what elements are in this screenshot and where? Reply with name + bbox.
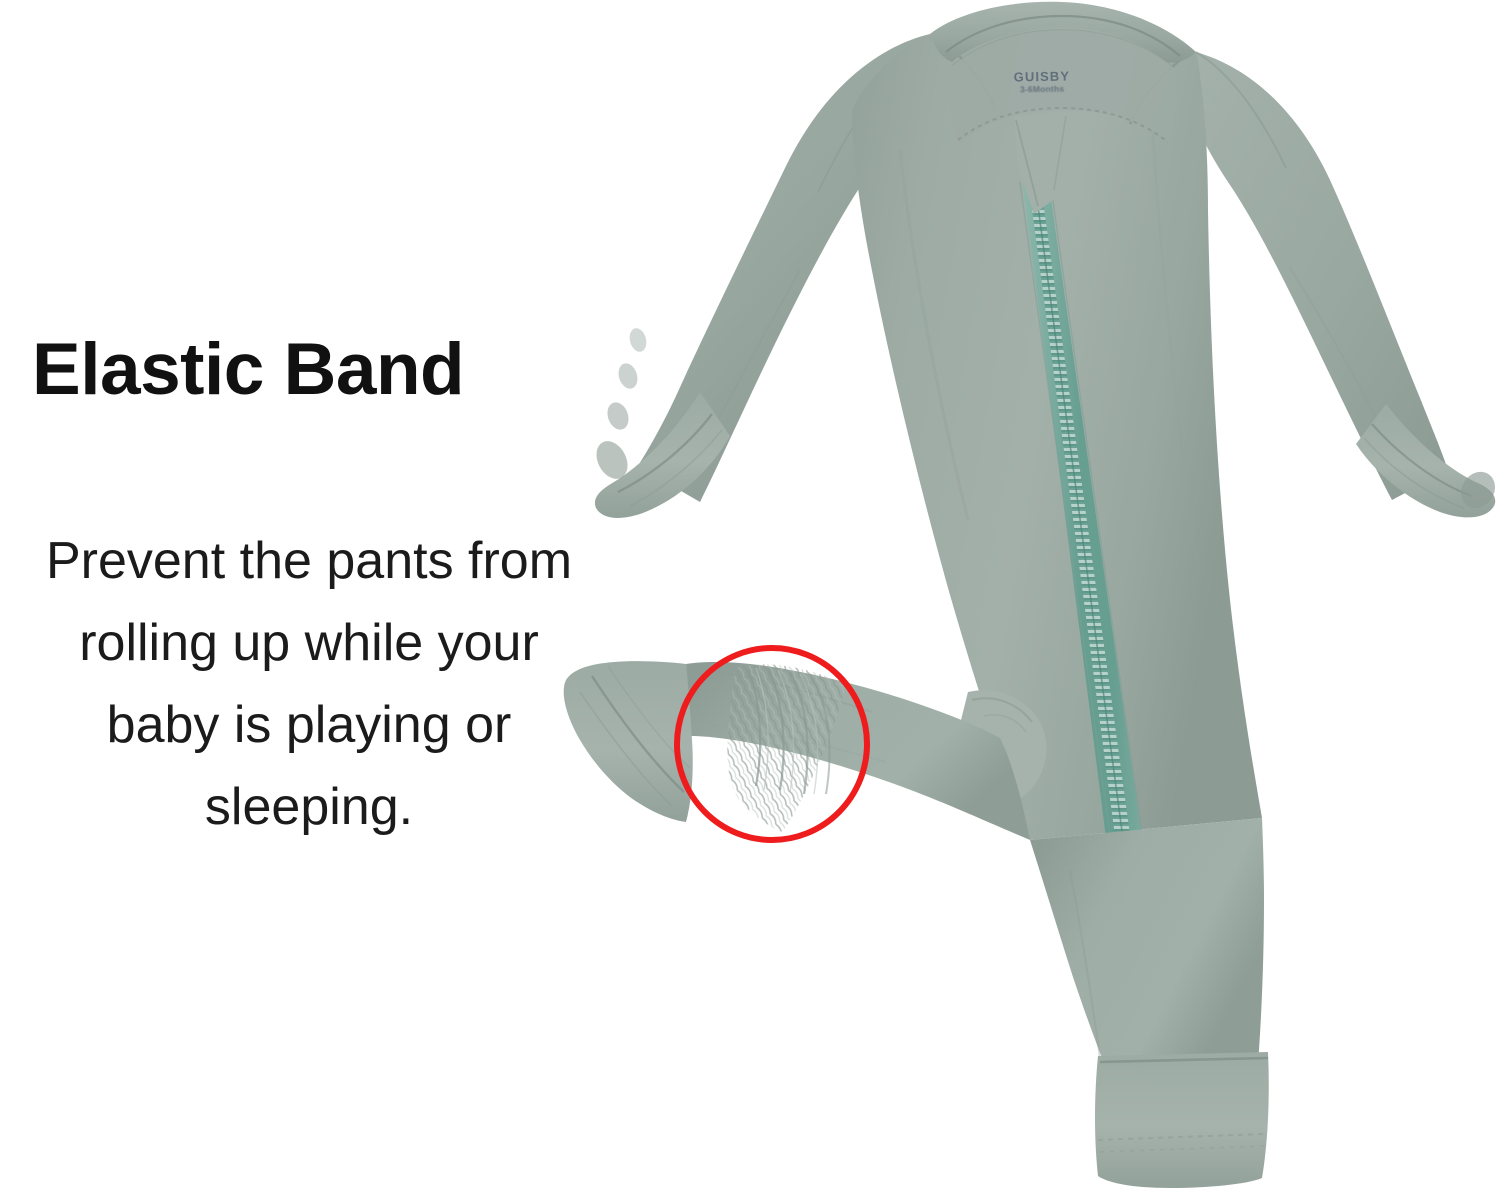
right-ankle-cuff	[1095, 1052, 1269, 1188]
product-feature-image: Elastic Band Prevent the pants from roll…	[0, 0, 1500, 1194]
left-ankle-cuff	[564, 661, 693, 822]
product-photo: GUISBY 3-6Months	[0, 0, 1500, 1194]
neck-brand-label: GUISBY 3-6Months	[996, 69, 1088, 96]
romper-illustration	[0, 0, 1500, 1194]
right-leg	[1030, 818, 1264, 1068]
size-text: 3-6Months	[996, 82, 1088, 96]
